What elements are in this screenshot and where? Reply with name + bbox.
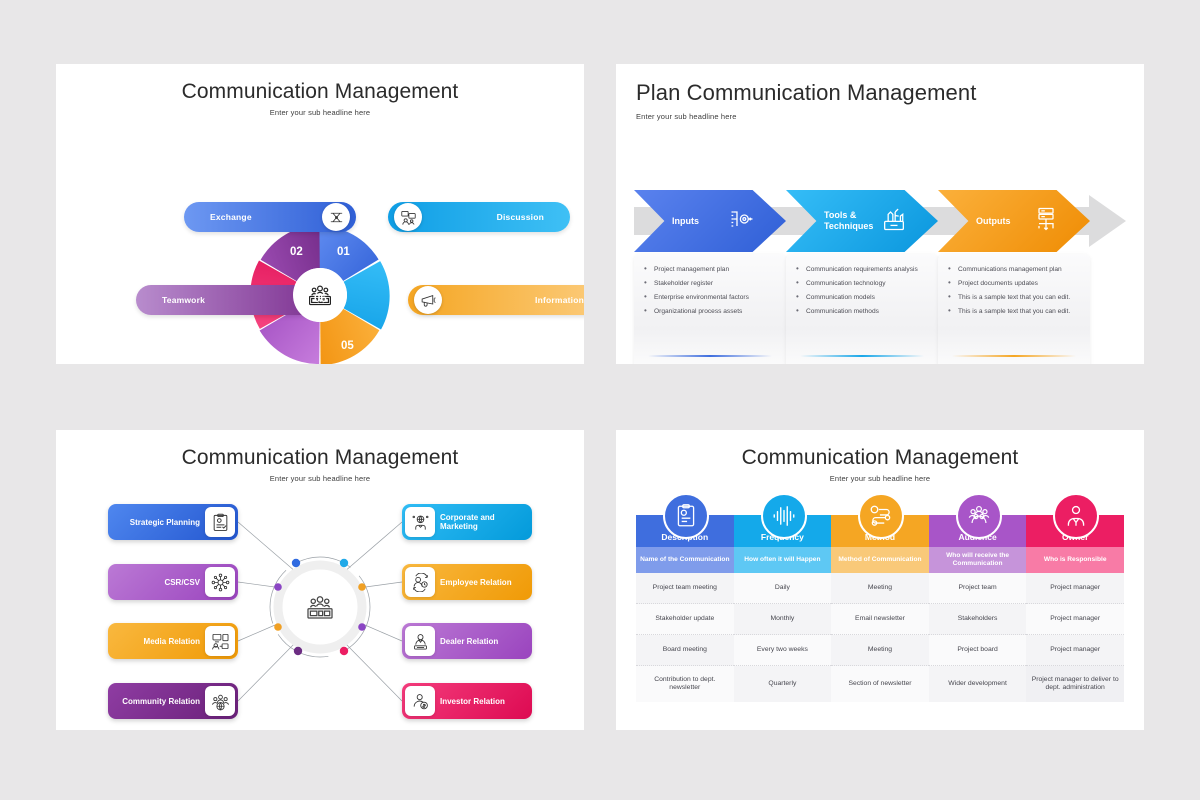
employee-relation-icon xyxy=(405,567,435,597)
list-item: Enterprise environmental factors xyxy=(642,292,776,303)
table-subheader-owner: Who is Responsible xyxy=(1026,547,1124,573)
pill-exchange[interactable]: Exchange xyxy=(184,202,356,232)
owner-person-icon xyxy=(1053,493,1099,539)
table-row[interactable]: Project team meeting Daily Meeting Proje… xyxy=(636,573,1124,604)
table-header-row: Description Frequency Method Audience xyxy=(636,515,1124,547)
stage-list-outputs: Communications management plan Project d… xyxy=(946,264,1080,317)
information-icon xyxy=(414,286,442,314)
discussion-icon xyxy=(394,203,422,231)
hub-box-community-relation[interactable]: Community Relation xyxy=(108,683,238,719)
table-row[interactable]: Stakeholder update Monthly Email newslet… xyxy=(636,604,1124,635)
page-title: Communication Management xyxy=(616,446,1144,470)
table-row[interactable]: Contribution to dept. newsletter Quarter… xyxy=(636,666,1124,702)
list-item: This is a sample text that you can edit. xyxy=(946,292,1080,303)
hub-box-employee-relation[interactable]: Employee Relation xyxy=(402,564,532,600)
exchange-icon xyxy=(322,203,350,231)
table-cell: Project manager xyxy=(1026,573,1124,604)
team-presentation-icon xyxy=(305,592,335,622)
table-cell: Project board xyxy=(929,635,1027,666)
slide-communication-management-hub[interactable]: Communication Management Enter your sub … xyxy=(56,430,584,730)
table-cell: Meeting xyxy=(831,573,929,604)
page-title: Plan Communication Management xyxy=(616,80,1144,106)
table-cell: Daily xyxy=(734,573,832,604)
table-cell: Project team meeting xyxy=(636,573,734,604)
list-item: This is a sample text that you can edit. xyxy=(946,306,1080,317)
hub-label-employee-relation: Employee Relation xyxy=(440,578,512,587)
table-cell: Meeting xyxy=(831,635,929,666)
stage-label-outputs: Outputs xyxy=(976,216,1024,227)
pill-label-teamwork: Teamwork xyxy=(162,295,205,305)
table-cell: Project team xyxy=(929,573,1027,604)
hub-box-media-relation[interactable]: Media Relation xyxy=(108,623,238,659)
page-subtitle: Enter your sub headline here xyxy=(616,112,1144,121)
list-item: Organizational process assets xyxy=(642,306,776,317)
table-header-audience[interactable]: Audience xyxy=(929,515,1027,547)
pill-information[interactable]: Information xyxy=(408,285,584,315)
pill-label-discussion: Discussion xyxy=(497,212,544,222)
table-header-method[interactable]: Method xyxy=(831,515,929,547)
segment-number-03: 03 xyxy=(394,293,407,305)
inputs-gear-icon xyxy=(728,205,756,238)
list-item: Communication technology xyxy=(794,278,928,289)
table-cell: Wider development xyxy=(929,666,1027,702)
hub-label-csr-csv: CSR/CSV xyxy=(164,578,200,587)
table-cell: Section of newsletter xyxy=(831,666,929,702)
table-cell: Stakeholder update xyxy=(636,604,734,635)
list-item: Communication requirements analysis xyxy=(794,264,928,275)
pill-label-information: Information xyxy=(535,295,584,305)
table-cell: Project manager xyxy=(1026,604,1124,635)
stage-list-tools-techniques: Communication requirements analysis Comm… xyxy=(794,264,928,317)
table-subheader-row: Name of the Communication How often it w… xyxy=(636,547,1124,573)
list-item: Project documents updates xyxy=(946,278,1080,289)
center-hub-icon-wrap xyxy=(302,589,338,625)
outputs-server-icon xyxy=(1032,205,1060,238)
method-gear-icon xyxy=(858,493,904,539)
communication-table: Description Frequency Method Audience xyxy=(636,515,1124,702)
table-cell: Quarterly xyxy=(734,666,832,702)
hub-box-investor-relation[interactable]: Investor Relation xyxy=(402,683,532,719)
table-subheader-frequency: How often it will Happen xyxy=(734,547,832,573)
hub-box-dealer-relation[interactable]: Dealer Relation xyxy=(402,623,532,659)
stage-card-outputs: Communications management plan Project d… xyxy=(938,254,1090,364)
pill-label-exchange: Exchange xyxy=(210,212,252,222)
slide-communication-management-donut[interactable]: Communication Management Enter your sub … xyxy=(56,64,584,364)
table-cell: Board meeting xyxy=(636,635,734,666)
page-subtitle: Enter your sub headline here xyxy=(616,474,1144,483)
donut-diagram: 01 02 03 04 05 06 Exchange Discussion Te… xyxy=(56,64,584,364)
table-header-description[interactable]: Description xyxy=(636,515,734,547)
hub-label-media-relation: Media Relation xyxy=(144,637,200,646)
list-item: Stakeholder register xyxy=(642,278,776,289)
table-subheader-method: Method of Communication xyxy=(831,547,929,573)
media-screen-icon xyxy=(205,626,235,656)
slide-plan-communication-management[interactable]: Plan Communication Management Enter your… xyxy=(616,64,1144,364)
segment-number-01: 01 xyxy=(337,246,350,258)
table-cell: Contribution to dept. newsletter xyxy=(636,666,734,702)
dealer-icon xyxy=(405,626,435,656)
audience-group-icon xyxy=(956,493,1002,539)
network-nodes-icon xyxy=(205,567,235,597)
hub-box-strategic-planning[interactable]: Strategic Planning xyxy=(108,504,238,540)
segment-number-02: 02 xyxy=(290,246,303,258)
hub-label-investor-relation: Investor Relation xyxy=(440,697,505,706)
pill-discussion[interactable]: Discussion xyxy=(388,202,570,232)
list-item: Project management plan xyxy=(642,264,776,275)
stage-label-inputs: Inputs xyxy=(672,216,720,227)
community-group-icon xyxy=(205,686,235,716)
clipboard-plan-icon xyxy=(205,507,235,537)
table-subheader-audience: Who will receive the Communication xyxy=(929,547,1027,573)
list-item: Communication methods xyxy=(794,306,928,317)
hub-box-corporate-and-marketing[interactable]: Corporate and Marketing xyxy=(402,504,532,540)
card-underline xyxy=(800,355,924,357)
table-cell: Stakeholders xyxy=(929,604,1027,635)
table-cell: Project manager to deliver to dept. admi… xyxy=(1026,666,1124,702)
investor-icon xyxy=(405,686,435,716)
table-header-owner[interactable]: Owner xyxy=(1026,515,1124,547)
stage-label-tools-techniques: Tools & Techniques xyxy=(824,210,872,232)
hub-box-csr-csv[interactable]: CSR/CSV xyxy=(108,564,238,600)
screenshot-stage: Communication Management Enter your sub … xyxy=(0,0,1200,800)
hub-label-community-relation: Community Relation xyxy=(122,697,200,706)
table-cell: Every two weeks xyxy=(734,635,832,666)
corporate-marketing-icon xyxy=(405,507,435,537)
list-item: Communications management plan xyxy=(946,264,1080,275)
segment-number-05: 05 xyxy=(341,340,354,352)
card-underline xyxy=(952,355,1076,357)
stage-list-inputs: Project management plan Stakeholder regi… xyxy=(642,264,776,317)
table-cell: Project manager xyxy=(1026,635,1124,666)
list-item: Communication models xyxy=(794,292,928,303)
table-header-frequency[interactable]: Frequency xyxy=(734,515,832,547)
clipboard-description-icon xyxy=(663,493,709,539)
stage-card-inputs: Project management plan Stakeholder regi… xyxy=(634,254,786,364)
segment-number-04: 04 xyxy=(393,340,406,352)
table-row[interactable]: Board meeting Every two weeks Meeting Pr… xyxy=(636,635,1124,666)
hub-label-strategic-planning: Strategic Planning xyxy=(130,518,200,527)
card-underline xyxy=(648,355,772,357)
waveform-frequency-icon xyxy=(761,493,807,539)
hub-label-corporate-and-marketing: Corporate and Marketing xyxy=(440,513,532,531)
table-subheader-description: Name of the Communication xyxy=(636,547,734,573)
segment-number-06: 06 xyxy=(314,293,327,305)
stage-card-tools-techniques: Communication requirements analysis Comm… xyxy=(786,254,938,364)
table-cell: Email newsletter xyxy=(831,604,929,635)
table-cell: Monthly xyxy=(734,604,832,635)
tools-icon xyxy=(880,205,908,238)
hub-label-dealer-relation: Dealer Relation xyxy=(440,637,498,646)
